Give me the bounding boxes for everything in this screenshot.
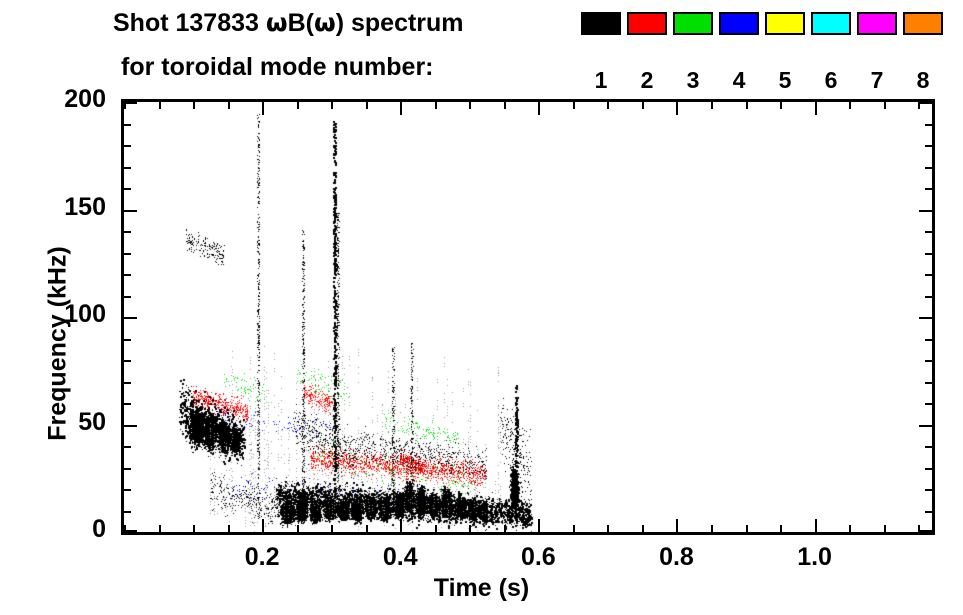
y-tick-right-100 xyxy=(919,317,932,319)
y-tick-right-10 xyxy=(925,511,932,513)
x-tick-bottom-0.60 xyxy=(538,519,540,532)
legend-label-2: 2 xyxy=(627,67,667,93)
legend-label-row: 12345678 xyxy=(581,67,943,93)
x-tick-top-0.95 xyxy=(780,102,782,109)
y-tick-right-130 xyxy=(925,253,932,255)
y-axis-title: Frequency (kHz) xyxy=(44,214,73,474)
legend-swatch-8 xyxy=(903,12,943,35)
y-tick-right-20 xyxy=(925,489,932,491)
x-tick-top-0.55 xyxy=(504,102,506,109)
x-tick-bottom-1.05 xyxy=(849,525,851,532)
x-tick-bottom-0.85 xyxy=(711,525,713,532)
x-tick-bottom-0.05 xyxy=(159,525,161,532)
y-tick-left-30 xyxy=(124,468,131,470)
legend-label-3: 3 xyxy=(673,67,713,93)
legend-label-7: 7 xyxy=(857,67,897,93)
legend-swatch-6 xyxy=(811,12,851,35)
x-tick-top-0.40 xyxy=(400,102,402,115)
x-tick-bottom-0.45 xyxy=(435,525,437,532)
y-tick-left-140 xyxy=(124,231,131,233)
legend-label-6: 6 xyxy=(811,67,851,93)
x-tick-bottom-0.80 xyxy=(676,519,678,532)
y-tick-left-0 xyxy=(124,530,137,532)
y-tick-left-70 xyxy=(124,382,131,384)
spectrogram-figure: Shot 137833 ωB(ω) spectrum for toroidal … xyxy=(0,0,963,615)
y-tick-left-60 xyxy=(124,403,131,405)
legend-swatch-1 xyxy=(581,12,621,35)
y-tick-left-90 xyxy=(124,339,131,341)
legend: 12345678 xyxy=(581,12,953,90)
y-tick-left-20 xyxy=(124,489,131,491)
x-tick-bottom-0.40 xyxy=(400,519,402,532)
y-tick-left-100 xyxy=(124,317,137,319)
y-tick-left-80 xyxy=(124,360,131,362)
title-b-text: B( xyxy=(288,9,314,37)
title-shot-text: Shot 137833 xyxy=(113,9,266,37)
y-tick-label-0: 0 xyxy=(14,515,106,544)
x-tick-top-0.10 xyxy=(193,102,195,109)
x-tick-top-0.80 xyxy=(676,102,678,115)
y-tick-right-40 xyxy=(925,446,932,448)
y-tick-left-160 xyxy=(124,188,131,190)
y-tick-right-90 xyxy=(925,339,932,341)
figure-title-line-1: Shot 137833 ωB(ω) spectrum xyxy=(113,8,464,38)
y-tick-right-80 xyxy=(925,360,932,362)
x-tick-top-0.85 xyxy=(711,102,713,109)
y-tick-right-200 xyxy=(919,102,932,104)
x-tick-bottom-0.90 xyxy=(746,525,748,532)
x-tick-top-0.65 xyxy=(573,102,575,109)
omega-symbol-1: ω xyxy=(266,8,288,37)
y-tick-right-50 xyxy=(919,425,932,427)
y-tick-label-200: 200 xyxy=(14,85,106,114)
legend-swatch-7 xyxy=(857,12,897,35)
legend-label-8: 8 xyxy=(903,67,943,93)
legend-swatch-2 xyxy=(627,12,667,35)
y-tick-right-140 xyxy=(925,231,932,233)
x-tick-top-0.15 xyxy=(228,102,230,109)
legend-label-4: 4 xyxy=(719,67,759,93)
x-tick-bottom-1.10 xyxy=(884,525,886,532)
x-tick-bottom-0.15 xyxy=(228,525,230,532)
y-tick-left-150 xyxy=(124,210,137,212)
x-tick-bottom-0.35 xyxy=(366,525,368,532)
x-tick-top-0.70 xyxy=(607,102,609,109)
x-tick-bottom-0.30 xyxy=(331,525,333,532)
title-spectrum-text: ) spectrum xyxy=(336,9,464,37)
y-tick-left-130 xyxy=(124,253,131,255)
y-tick-right-30 xyxy=(925,468,932,470)
x-tick-top-0.35 xyxy=(366,102,368,109)
x-tick-top-0.30 xyxy=(331,102,333,109)
x-tick-label-0.4: 0.4 xyxy=(360,543,440,572)
legend-label-5: 5 xyxy=(765,67,805,93)
x-tick-top-0.05 xyxy=(159,102,161,109)
y-tick-right-180 xyxy=(925,145,932,147)
x-tick-top-0.50 xyxy=(469,102,471,109)
x-tick-bottom-0.25 xyxy=(297,525,299,532)
y-tick-right-160 xyxy=(925,188,932,190)
x-tick-top-1.00 xyxy=(815,102,817,115)
y-tick-right-60 xyxy=(925,403,932,405)
y-tick-left-10 xyxy=(124,511,131,513)
x-tick-bottom-0.10 xyxy=(193,525,195,532)
x-tick-top-0.60 xyxy=(538,102,540,115)
x-tick-bottom-0.65 xyxy=(573,525,575,532)
x-tick-bottom-0.50 xyxy=(469,525,471,532)
x-tick-bottom-0.70 xyxy=(607,525,609,532)
x-tick-top-1.05 xyxy=(849,102,851,109)
legend-swatch-4 xyxy=(719,12,759,35)
x-tick-top-0.75 xyxy=(642,102,644,109)
y-axis-title-wrapper: Frequency (kHz) xyxy=(0,99,1,535)
y-tick-left-180 xyxy=(124,145,131,147)
y-tick-left-50 xyxy=(124,425,137,427)
y-tick-right-170 xyxy=(925,167,932,169)
x-tick-bottom-0.75 xyxy=(642,525,644,532)
legend-swatch-3 xyxy=(673,12,713,35)
x-tick-bottom-0.55 xyxy=(504,525,506,532)
x-tick-label-0.2: 0.2 xyxy=(222,543,302,572)
legend-label-1: 1 xyxy=(581,67,621,93)
y-tick-left-110 xyxy=(124,296,131,298)
x-tick-label-0.6: 0.6 xyxy=(498,543,578,572)
x-tick-label-1.0: 1.0 xyxy=(775,543,855,572)
y-tick-left-190 xyxy=(124,124,131,126)
legend-swatch-5 xyxy=(765,12,805,35)
y-tick-right-0 xyxy=(919,530,932,532)
x-tick-top-0.90 xyxy=(746,102,748,109)
legend-swatch-row xyxy=(581,12,943,35)
y-tick-right-150 xyxy=(919,210,932,212)
y-tick-left-40 xyxy=(124,446,131,448)
plot-area xyxy=(121,99,935,535)
x-tick-top-0.20 xyxy=(262,102,264,115)
x-tick-top-0.25 xyxy=(297,102,299,109)
figure-title-line-2: for toroidal mode number: xyxy=(121,53,434,82)
omega-symbol-2: ω xyxy=(314,8,336,37)
spectrogram-scatter-canvas xyxy=(127,105,935,535)
x-tick-top-1.10 xyxy=(884,102,886,109)
y-tick-right-70 xyxy=(925,382,932,384)
y-tick-right-120 xyxy=(925,274,932,276)
y-tick-left-120 xyxy=(124,274,131,276)
y-tick-right-190 xyxy=(925,124,932,126)
y-tick-left-200 xyxy=(124,102,137,104)
x-tick-bottom-0.20 xyxy=(262,519,264,532)
x-tick-bottom-0.95 xyxy=(780,525,782,532)
x-axis-title: Time (s) xyxy=(0,574,963,603)
y-tick-left-170 xyxy=(124,167,131,169)
x-tick-top-0.45 xyxy=(435,102,437,109)
x-tick-bottom-1.00 xyxy=(815,519,817,532)
x-tick-label-0.8: 0.8 xyxy=(636,543,716,572)
y-tick-right-110 xyxy=(925,296,932,298)
